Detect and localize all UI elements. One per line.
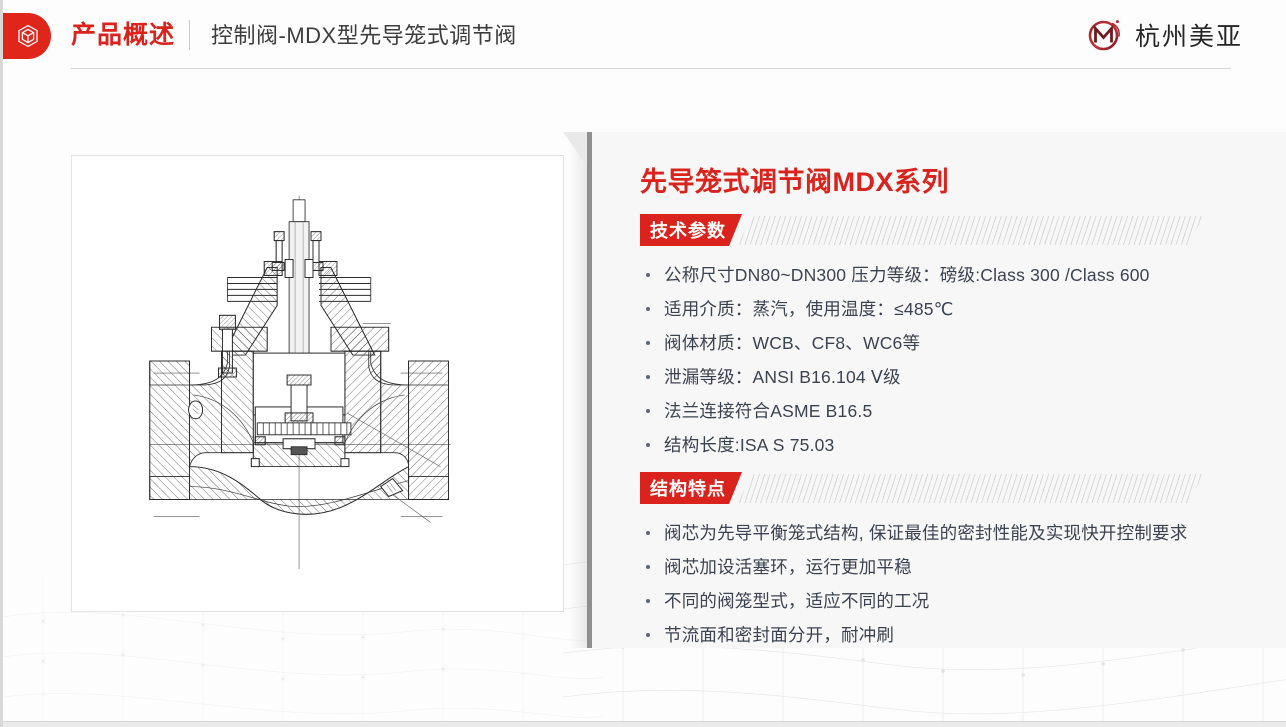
header-rule	[71, 68, 1231, 69]
section-structural-features: 结构特点	[640, 472, 1200, 504]
section-tag-structural-features: 结构特点	[640, 472, 742, 504]
page-root: 产品概述 控制阀-MDX型先导笼式调节阀	[0, 0, 1286, 727]
list-item: 节流面和密封面分开，耐冲刷	[640, 618, 1187, 652]
technical-parameters-list: 公称尺寸DN80~DN300 压力等级：磅级:Class 300 /Class …	[640, 258, 1150, 462]
list-item: 适用介质：蒸汽，使用温度：≤485℃	[640, 292, 1150, 326]
section-header: 结构特点	[640, 472, 1200, 504]
brand-name: 杭州美亚	[1135, 17, 1243, 53]
bottom-strip	[3, 721, 1286, 727]
list-item: 阀芯为先导平衡笼式结构, 保证最佳的密封性能及实现快开控制要求	[640, 516, 1187, 550]
page-title: 产品概述	[71, 18, 175, 52]
list-item: 阀体材质：WCB、CF8、WC6等	[640, 326, 1150, 360]
meiya-logo-icon	[1084, 14, 1126, 56]
list-item: 公称尺寸DN80~DN300 压力等级：磅级:Class 300 /Class …	[640, 258, 1150, 292]
section-header: 技术参数	[640, 214, 1200, 246]
structural-features-list: 阀芯为先导平衡笼式结构, 保证最佳的密封性能及实现快开控制要求 阀芯加设活塞环，…	[640, 516, 1187, 652]
page-header: 产品概述 控制阀-MDX型先导笼式调节阀	[3, 0, 1286, 69]
section-hatch-decoration	[738, 474, 1203, 503]
cube-hexagon-icon	[16, 24, 40, 48]
header-divider	[189, 20, 190, 50]
list-item: 结构长度:ISA S 75.03	[640, 428, 1150, 462]
page-subtitle: 控制阀-MDX型先导笼式调节阀	[211, 20, 517, 52]
list-item: 阀芯加设活塞环，运行更加平稳	[640, 550, 1187, 584]
brand-logo: 杭州美亚	[1084, 14, 1243, 56]
list-item: 泄漏等级：ANSI B16.104 Ⅴ级	[640, 360, 1150, 394]
section-hatch-decoration	[738, 216, 1203, 245]
section-tag-technical-parameters: 技术参数	[640, 214, 742, 246]
spec-panel: 先导笼式调节阀MDX系列 技术参数 公称尺寸DN80~DN300 压力等级：磅级…	[587, 132, 1286, 648]
panel-shadow	[569, 134, 589, 648]
list-item: 不同的阀笼型式，适应不同的工况	[640, 584, 1187, 618]
product-badge	[0, 13, 51, 59]
spec-panel-title: 先导笼式调节阀MDX系列	[640, 160, 949, 199]
section-technical-parameters: 技术参数	[640, 214, 1200, 246]
list-item: 法兰连接符合ASME B16.5	[640, 394, 1150, 428]
valve-cross-section-drawing	[71, 155, 564, 612]
